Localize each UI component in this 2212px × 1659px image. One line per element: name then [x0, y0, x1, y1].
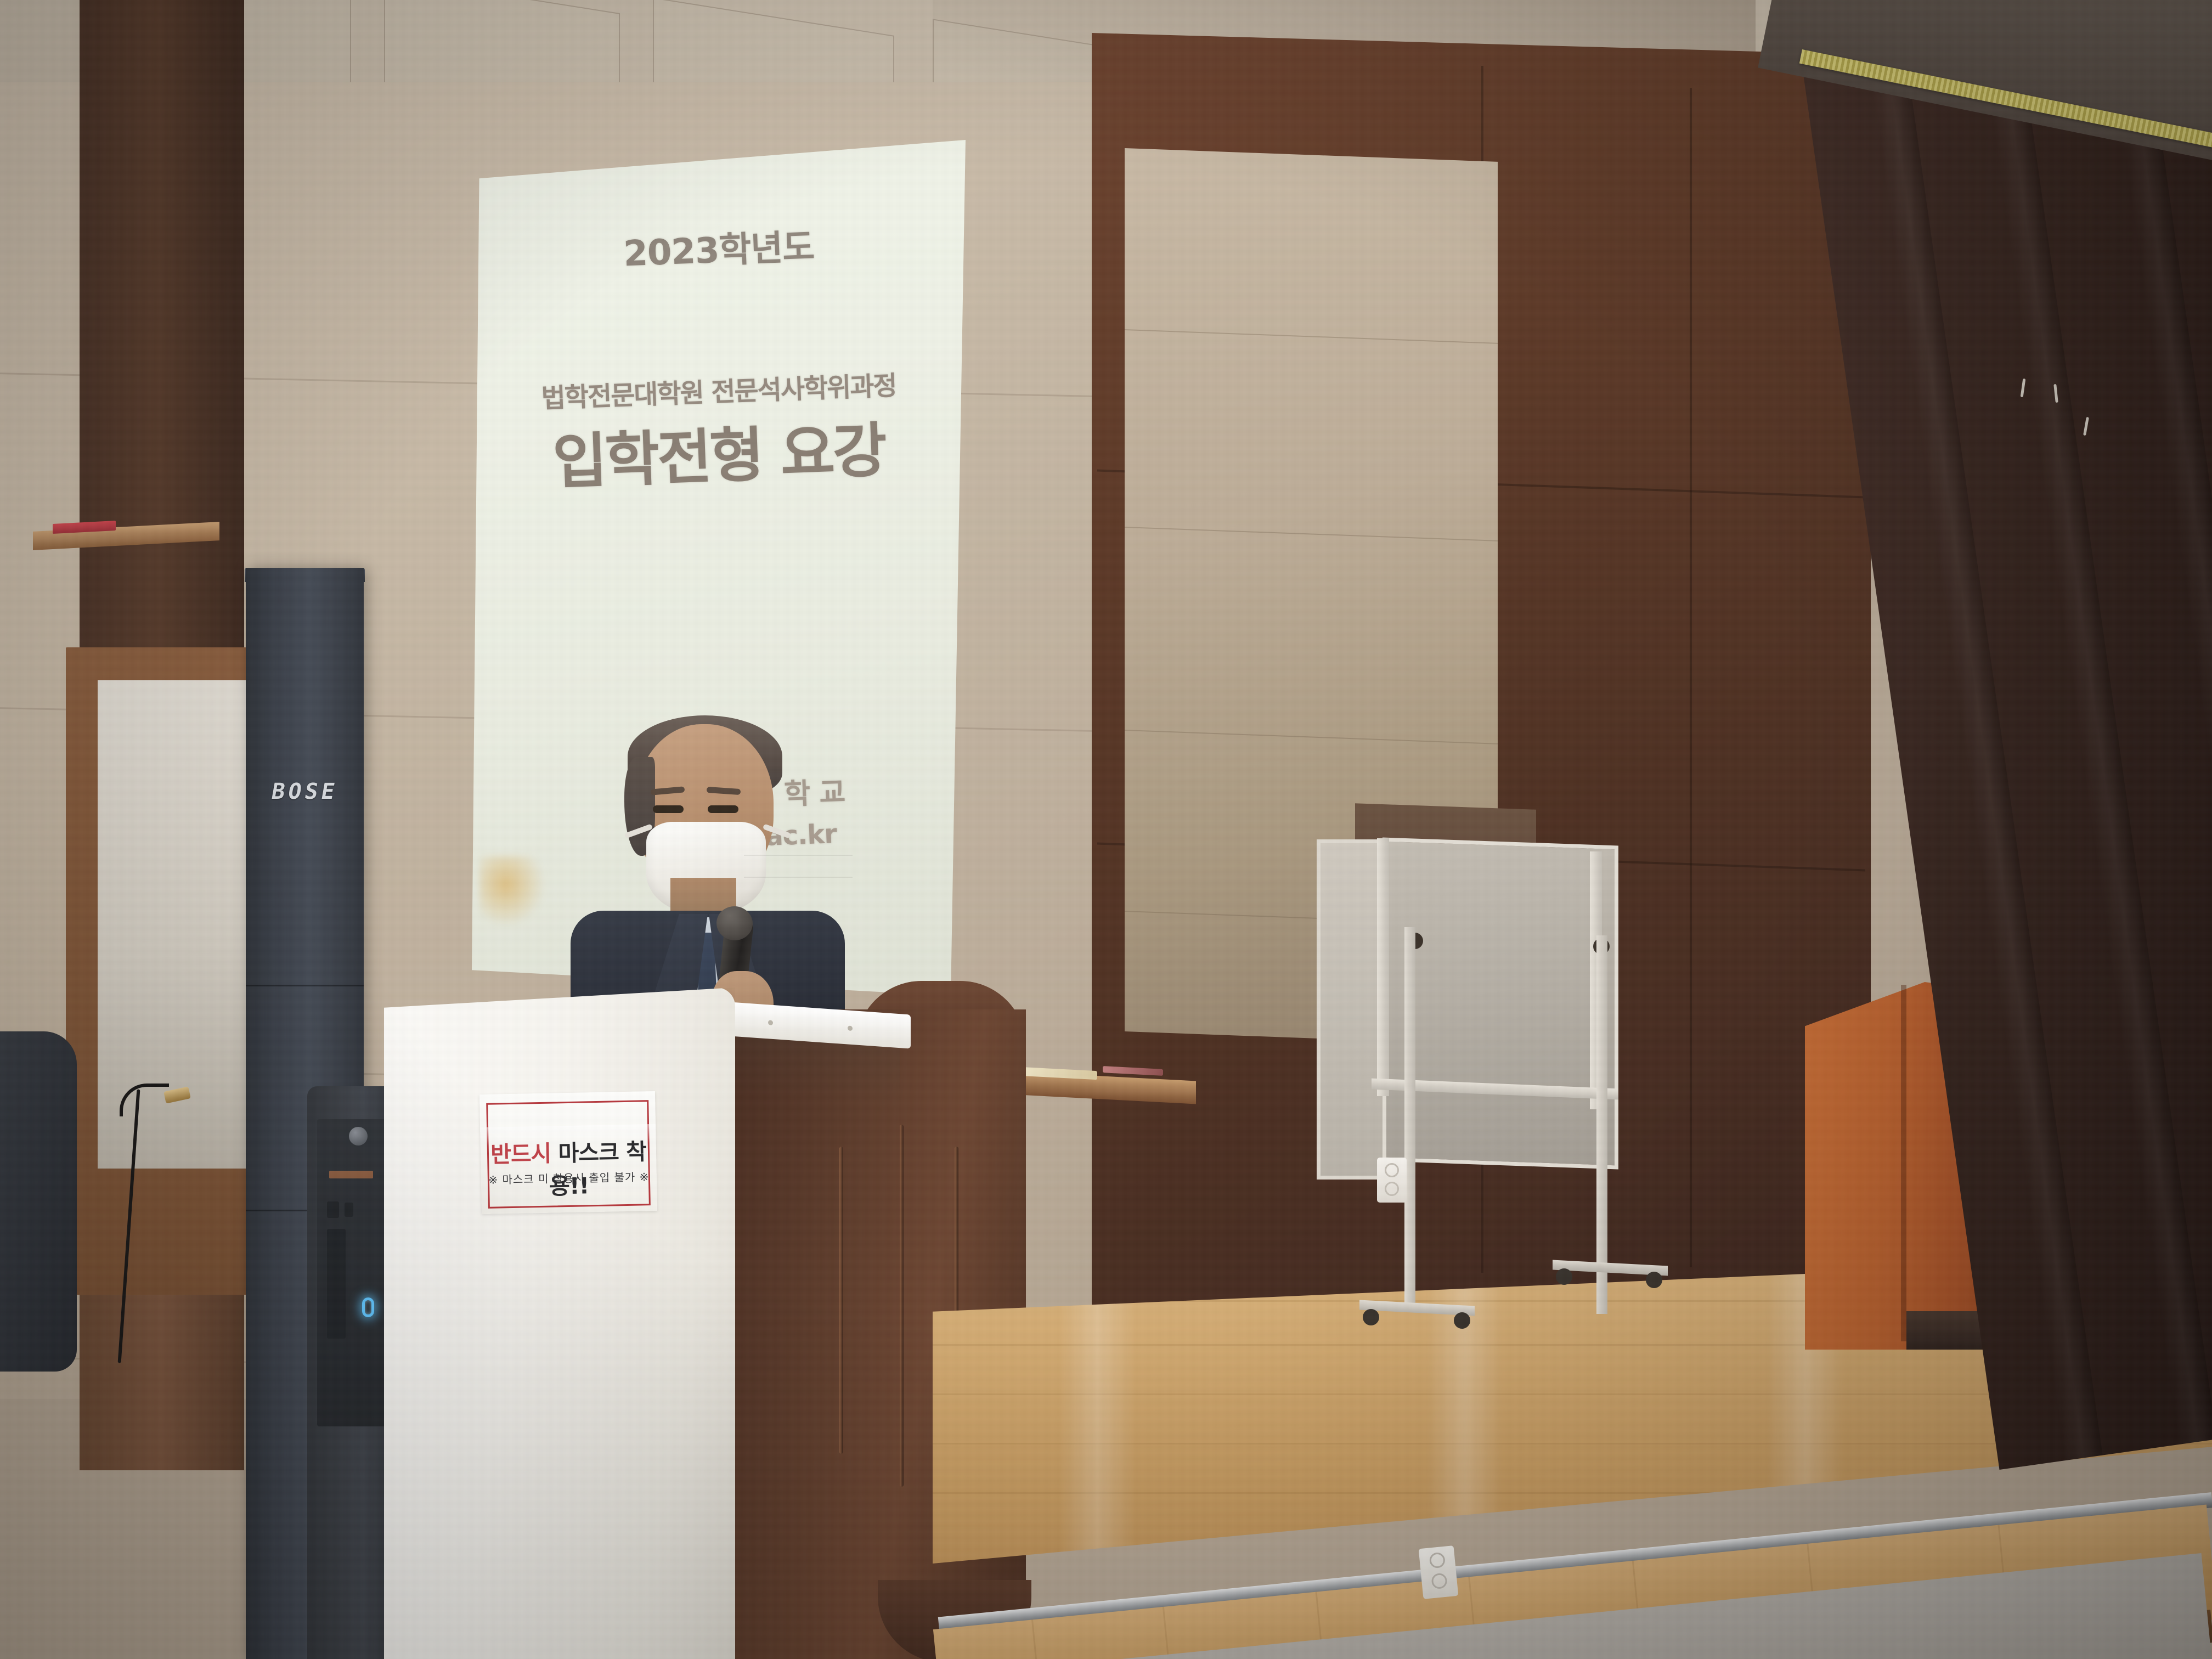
white-podium [384, 988, 735, 1659]
mask-sign-headline: 반드시 마스크 착용!! [480, 1133, 657, 1202]
whiteboard-caster [1646, 1272, 1662, 1288]
presenter-eye [653, 805, 684, 813]
screen-stain [479, 856, 545, 927]
bose-logo: BOSE [244, 779, 366, 804]
presenter-eye [708, 805, 738, 813]
whiteboard-surface[interactable] [1383, 837, 1618, 1169]
lectern-edge-shadow [1901, 985, 1906, 1341]
mobile-whiteboard[interactable] [1317, 834, 1657, 1317]
whiteboard-caster [1363, 1309, 1379, 1325]
wood-wall-seam [1690, 88, 1692, 1267]
whiteboard-leg [1404, 927, 1415, 1311]
mask-sign-subline: ※ 마스크 미 착용시 출입 불가 ※ [481, 1168, 657, 1187]
whiteboard-post [1377, 838, 1389, 1096]
foreground-dark-object [0, 1031, 77, 1372]
wall-pilaster-upper [80, 0, 244, 746]
power-indicator-led [362, 1297, 374, 1317]
rack-knob[interactable] [349, 1127, 368, 1145]
slide-title-line: 입학전형 요강 [470, 400, 967, 504]
auditorium-photo: 2023학년도 법학전문대학원 전문석사학위과정 입학전형 요강 학 교 s.a… [0, 0, 2212, 1659]
wall-power-outlet [1377, 1158, 1407, 1203]
rack-button[interactable] [345, 1203, 353, 1217]
lectern-groove [839, 1147, 843, 1454]
stage-fascia-outlet [1419, 1545, 1459, 1599]
rack-button[interactable] [327, 1201, 339, 1218]
whiteboard-leg [1596, 935, 1607, 1314]
rack-slot [329, 1171, 373, 1178]
whiteboard-caster [1454, 1312, 1470, 1329]
lectern-groove [900, 1125, 904, 1487]
mask-notice-sign: 반드시 마스크 착용!! ※ 마스크 미 착용시 출입 불가 ※ [479, 1091, 657, 1214]
whiteboard-caster [1556, 1268, 1572, 1285]
rack-fader[interactable] [327, 1229, 346, 1339]
